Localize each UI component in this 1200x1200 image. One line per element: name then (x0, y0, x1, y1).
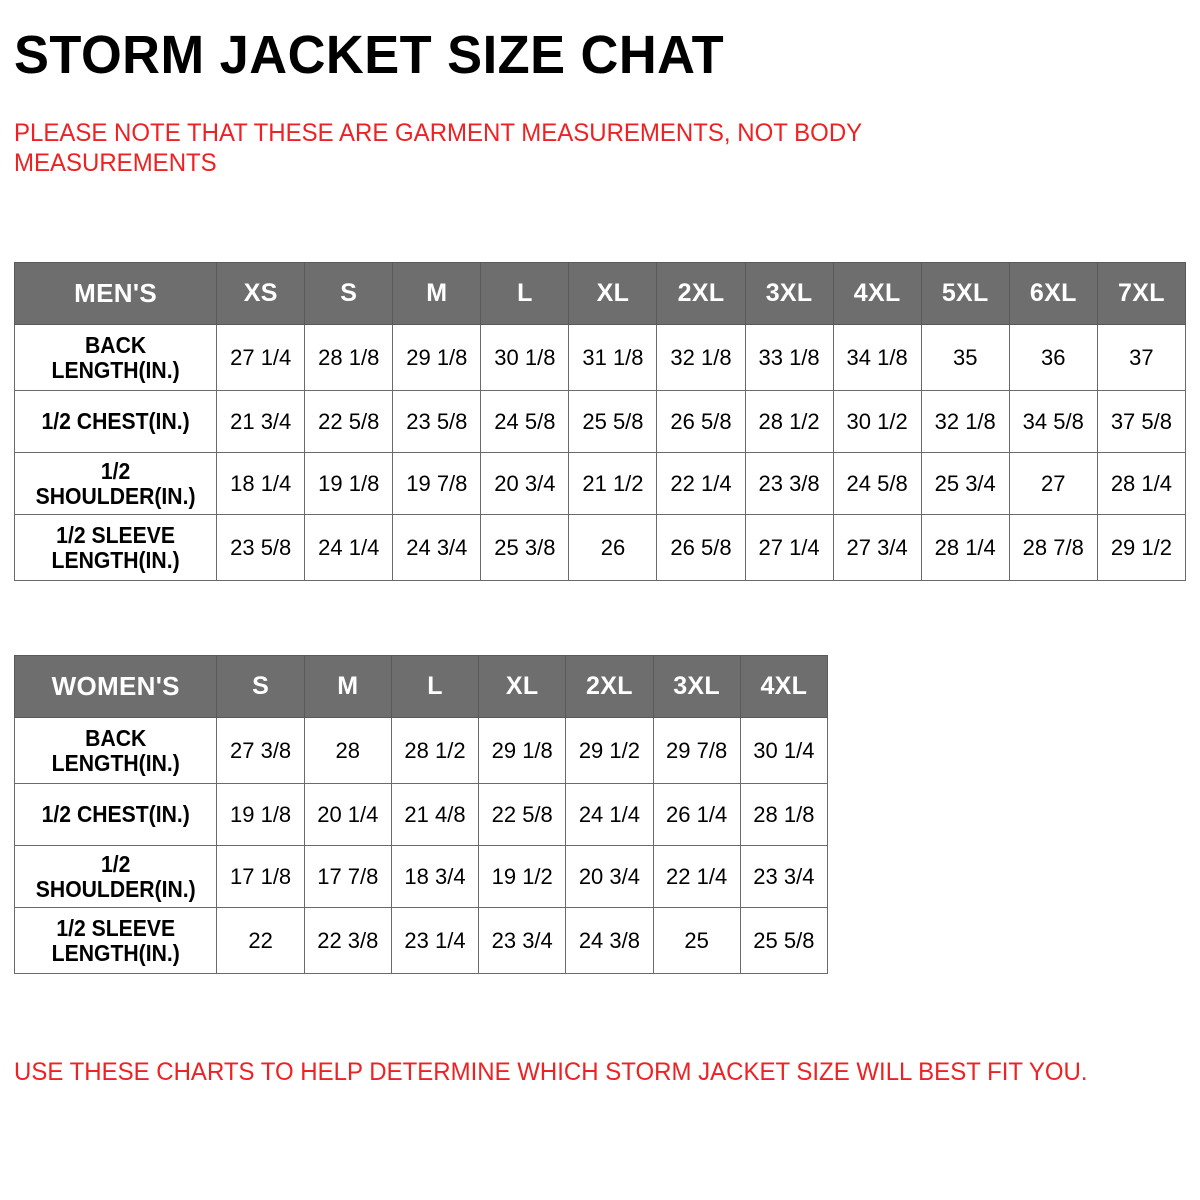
mens-measurement-value: 32 1/8 (921, 391, 1009, 453)
mens-size-header-6xl: 6XL (1009, 263, 1097, 325)
mens-measurement-value: 18 1/4 (217, 453, 305, 515)
womens-measurement-label: 1/2 SHOULDER(IN.) (15, 846, 217, 908)
mens-measurement-value: 32 1/8 (657, 325, 745, 391)
mens-measurement-value: 28 7/8 (1009, 515, 1097, 581)
mens-measurement-value: 37 (1097, 325, 1185, 391)
womens-measurement-value: 25 5/8 (740, 908, 827, 974)
womens-size-header-4xl: 4XL (740, 656, 827, 718)
mens-measurement-value: 23 5/8 (217, 515, 305, 581)
mens-measurement-value: 24 5/8 (481, 391, 569, 453)
mens-size-header-3xl: 3XL (745, 263, 833, 325)
mens-measurement-value: 22 5/8 (305, 391, 393, 453)
mens-size-header-m: M (393, 263, 481, 325)
page-title: STORM JACKET SIZE CHAT (14, 24, 724, 86)
mens-measurement-value: 29 1/2 (1097, 515, 1185, 581)
mens-measurement-value: 27 1/4 (217, 325, 305, 391)
womens-measurement-label: 1/2 CHEST(IN.) (15, 784, 217, 846)
womens-measurement-value: 29 7/8 (653, 718, 740, 784)
mens-measurement-value: 36 (1009, 325, 1097, 391)
womens-size-header-m: M (304, 656, 391, 718)
womens-measurement-value: 20 1/4 (304, 784, 391, 846)
womens-measurement-value: 17 1/8 (217, 846, 304, 908)
size-chart-page: STORM JACKET SIZE CHAT PLEASE NOTE THAT … (0, 0, 1200, 1200)
womens-measurement-value: 22 5/8 (479, 784, 566, 846)
mens-size-header-5xl: 5XL (921, 263, 1009, 325)
womens-measurement-value: 22 3/8 (304, 908, 391, 974)
mens-measurement-value: 19 7/8 (393, 453, 481, 515)
womens-measurement-label: BACKLENGTH(IN.) (15, 718, 217, 784)
womens-measurement-value: 28 (304, 718, 391, 784)
mens-measurement-label: 1/2 CHEST(IN.) (15, 391, 217, 453)
mens-header-row: MEN'SXSSMLXL2XL3XL4XL5XL6XL7XL (15, 263, 1186, 325)
mens-measurement-value: 27 1/4 (745, 515, 833, 581)
womens-measurement-value: 19 1/8 (217, 784, 304, 846)
womens-measurement-value: 18 3/4 (391, 846, 478, 908)
mens-size-header-2xl: 2XL (657, 263, 745, 325)
mens-measurement-value: 22 1/4 (657, 453, 745, 515)
mens-measurement-value: 30 1/2 (833, 391, 921, 453)
womens-table-corner-label: WOMEN'S (15, 656, 217, 718)
mens-measurement-value: 24 5/8 (833, 453, 921, 515)
mens-table-row: 1/2 SHOULDER(IN.)18 1/419 1/819 7/820 3/… (15, 453, 1186, 515)
garment-measurement-note: PLEASE NOTE THAT THESE ARE GARMENT MEASU… (14, 118, 936, 178)
womens-header-row: WOMEN'SSMLXL2XL3XL4XL (15, 656, 828, 718)
womens-table-row: 1/2 SLEEVELENGTH(IN.)2222 3/823 1/423 3/… (15, 908, 828, 974)
mens-size-header-xs: XS (217, 263, 305, 325)
mens-size-header-4xl: 4XL (833, 263, 921, 325)
womens-size-header-3xl: 3XL (653, 656, 740, 718)
mens-measurement-value: 24 3/4 (393, 515, 481, 581)
womens-measurement-value: 28 1/2 (391, 718, 478, 784)
mens-measurement-value: 24 1/4 (305, 515, 393, 581)
womens-table-row: 1/2 CHEST(IN.)19 1/820 1/421 4/822 5/824… (15, 784, 828, 846)
mens-measurement-value: 25 3/4 (921, 453, 1009, 515)
mens-measurement-value: 20 3/4 (481, 453, 569, 515)
mens-size-header-xl: XL (569, 263, 657, 325)
mens-table-row: BACKLENGTH(IN.)27 1/428 1/829 1/830 1/83… (15, 325, 1186, 391)
mens-table-row: 1/2 SLEEVELENGTH(IN.)23 5/824 1/424 3/42… (15, 515, 1186, 581)
mens-size-header-7xl: 7XL (1097, 263, 1185, 325)
womens-measurement-value: 24 3/8 (566, 908, 653, 974)
womens-measurement-value: 17 7/8 (304, 846, 391, 908)
mens-measurement-label: BACKLENGTH(IN.) (15, 325, 217, 391)
womens-table-header: WOMEN'SSMLXL2XL3XL4XL (15, 656, 828, 718)
mens-measurement-value: 23 3/8 (745, 453, 833, 515)
mens-size-header-s: S (305, 263, 393, 325)
womens-size-header-l: L (391, 656, 478, 718)
mens-measurement-value: 27 (1009, 453, 1097, 515)
mens-table-corner-label: MEN'S (15, 263, 217, 325)
mens-measurement-value: 28 1/2 (745, 391, 833, 453)
mens-measurement-value: 33 1/8 (745, 325, 833, 391)
womens-measurement-value: 27 3/8 (217, 718, 304, 784)
mens-measurement-value: 19 1/8 (305, 453, 393, 515)
womens-table-row: 1/2 SHOULDER(IN.)17 1/817 7/818 3/419 1/… (15, 846, 828, 908)
womens-table-row: BACKLENGTH(IN.)27 3/82828 1/229 1/829 1/… (15, 718, 828, 784)
womens-measurement-value: 25 (653, 908, 740, 974)
womens-measurement-value: 30 1/4 (740, 718, 827, 784)
mens-measurement-value: 37 5/8 (1097, 391, 1185, 453)
mens-measurement-value: 26 (569, 515, 657, 581)
womens-measurement-value: 22 (217, 908, 304, 974)
mens-measurement-value: 31 1/8 (569, 325, 657, 391)
footer-note: USE THESE CHARTS TO HELP DETERMINE WHICH… (14, 1057, 1099, 1087)
mens-size-header-l: L (481, 263, 569, 325)
mens-measurement-value: 27 3/4 (833, 515, 921, 581)
womens-measurement-label: 1/2 SLEEVELENGTH(IN.) (15, 908, 217, 974)
mens-measurement-value: 28 1/4 (1097, 453, 1185, 515)
mens-measurement-value: 21 1/2 (569, 453, 657, 515)
mens-measurement-value: 29 1/8 (393, 325, 481, 391)
mens-size-table: MEN'SXSSMLXL2XL3XL4XL5XL6XL7XL BACKLENGT… (14, 262, 1186, 581)
womens-measurement-value: 23 1/4 (391, 908, 478, 974)
mens-measurement-value: 34 1/8 (833, 325, 921, 391)
mens-measurement-value: 28 1/4 (921, 515, 1009, 581)
mens-table-header: MEN'SXSSMLXL2XL3XL4XL5XL6XL7XL (15, 263, 1186, 325)
womens-measurement-value: 19 1/2 (479, 846, 566, 908)
mens-measurement-value: 25 3/8 (481, 515, 569, 581)
mens-measurement-label: 1/2 SLEEVELENGTH(IN.) (15, 515, 217, 581)
womens-measurement-value: 23 3/4 (740, 846, 827, 908)
mens-table-row: 1/2 CHEST(IN.)21 3/422 5/823 5/824 5/825… (15, 391, 1186, 453)
mens-measurement-value: 34 5/8 (1009, 391, 1097, 453)
womens-measurement-value: 29 1/2 (566, 718, 653, 784)
womens-size-header-s: S (217, 656, 304, 718)
mens-measurement-value: 25 5/8 (569, 391, 657, 453)
mens-measurement-value: 35 (921, 325, 1009, 391)
mens-measurement-value: 30 1/8 (481, 325, 569, 391)
womens-size-table: WOMEN'SSMLXL2XL3XL4XL BACKLENGTH(IN.)27 … (14, 655, 828, 974)
mens-measurement-value: 21 3/4 (217, 391, 305, 453)
mens-table-body: BACKLENGTH(IN.)27 1/428 1/829 1/830 1/83… (15, 325, 1186, 581)
womens-measurement-value: 20 3/4 (566, 846, 653, 908)
mens-measurement-label: 1/2 SHOULDER(IN.) (15, 453, 217, 515)
womens-measurement-value: 29 1/8 (479, 718, 566, 784)
womens-size-header-xl: XL (479, 656, 566, 718)
mens-measurement-value: 26 5/8 (657, 391, 745, 453)
mens-measurement-value: 23 5/8 (393, 391, 481, 453)
womens-measurement-value: 28 1/8 (740, 784, 827, 846)
womens-size-header-2xl: 2XL (566, 656, 653, 718)
mens-measurement-value: 28 1/8 (305, 325, 393, 391)
mens-measurement-value: 26 5/8 (657, 515, 745, 581)
womens-measurement-value: 22 1/4 (653, 846, 740, 908)
womens-measurement-value: 24 1/4 (566, 784, 653, 846)
womens-table-body: BACKLENGTH(IN.)27 3/82828 1/229 1/829 1/… (15, 718, 828, 974)
womens-measurement-value: 21 4/8 (391, 784, 478, 846)
womens-measurement-value: 26 1/4 (653, 784, 740, 846)
womens-measurement-value: 23 3/4 (479, 908, 566, 974)
